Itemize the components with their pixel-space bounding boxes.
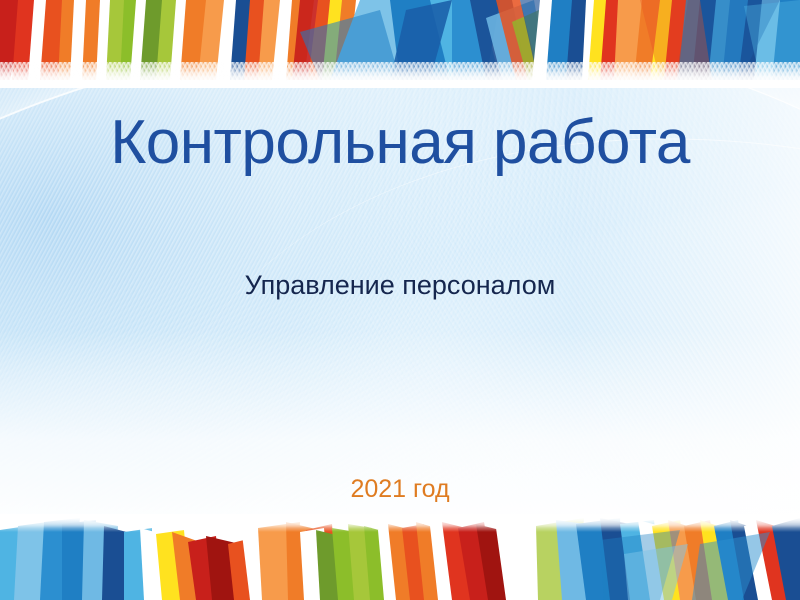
title-slide: Контрольная работа Управление персоналом…: [0, 0, 800, 600]
slide-background: [0, 0, 800, 600]
slide-subtitle: Управление персоналом: [0, 272, 800, 299]
slide-title: Контрольная работа: [0, 112, 800, 174]
top-band-graphic: [0, 0, 800, 88]
bottom-band-graphic: [0, 514, 800, 600]
slide-year: 2021 год: [0, 477, 800, 502]
top-decorative-band: [0, 0, 800, 88]
bottom-decorative-band: [0, 514, 800, 600]
